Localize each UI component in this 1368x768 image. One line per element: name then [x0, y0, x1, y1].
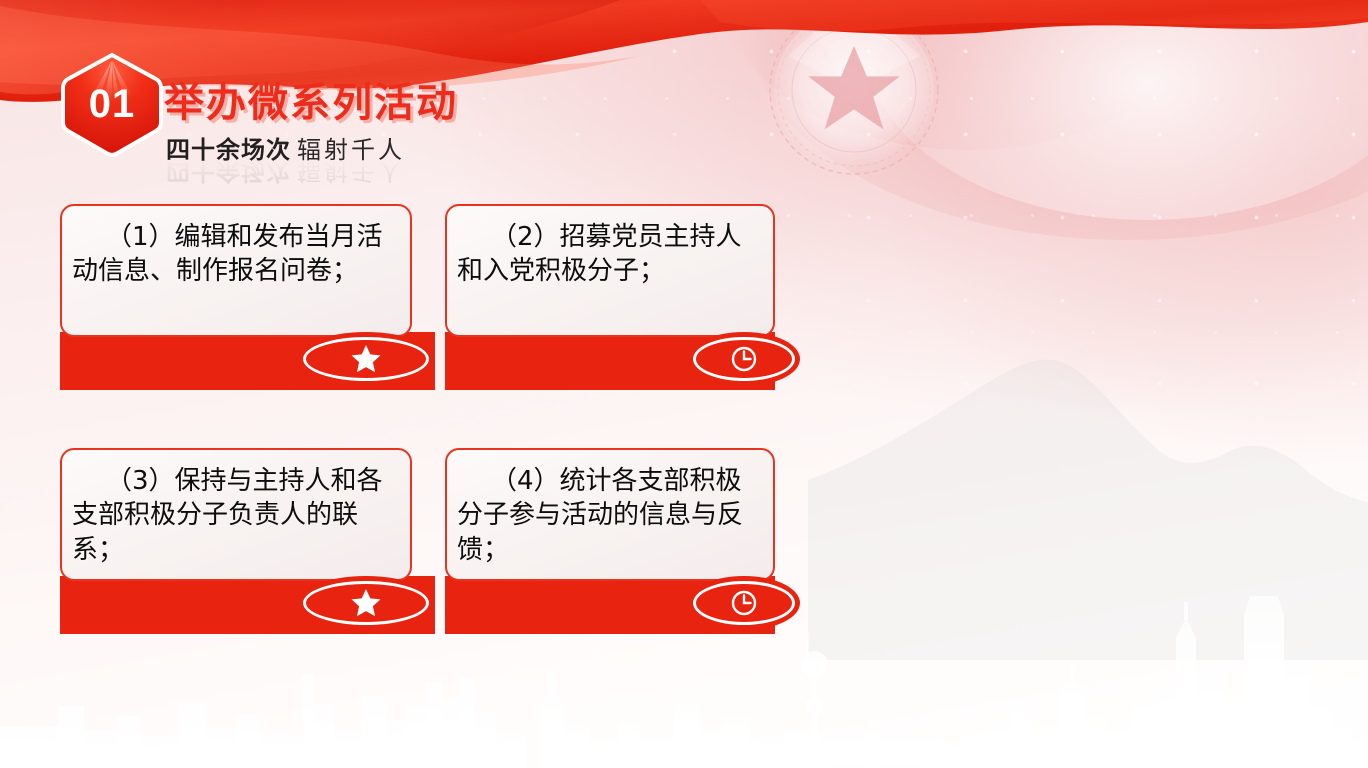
task-card[interactable]: （2）招募党员主持人和入党积极分子； — [445, 204, 797, 394]
star-badge[interactable] — [298, 332, 434, 386]
number-badge-label: 01 — [56, 52, 168, 158]
card-text: （1）编辑和发布当月活动信息、制作报名问卷； — [62, 206, 410, 289]
card-body: （4）统计各支部积极分子参与活动的信息与反馈； — [445, 448, 775, 581]
cloud-band-decoration — [728, 0, 1208, 150]
card-text: （4）统计各支部积极分子参与活动的信息与反馈； — [447, 450, 773, 567]
task-card[interactable]: （4）统计各支部积极分子参与活动的信息与反馈； — [445, 448, 797, 638]
mountain-silhouette-icon — [808, 330, 1368, 660]
cloud-band-decoration — [748, 0, 1368, 240]
subtitle-strong-reflection: 四十余场次 — [166, 157, 291, 185]
clock-badge[interactable] — [688, 576, 800, 630]
clock-icon — [728, 587, 760, 619]
subtitle-light-reflection: 辐射千人 — [297, 157, 405, 185]
star-icon — [349, 586, 383, 620]
number-badge: 01 — [56, 52, 168, 158]
star-medallion-watermark-icon — [736, 0, 972, 190]
task-card[interactable]: （1）编辑和发布当月活动信息、制作报名问卷； — [60, 204, 435, 394]
slide-canvas: 01 举办微系列活动 四十余场次辐射千人 四十余场次辐射千人 （1）编辑和发布当… — [0, 0, 1368, 768]
clock-badge[interactable] — [688, 332, 800, 386]
card-body: （3）保持与主持人和各支部积极分子负责人的联系； — [60, 448, 412, 581]
cloud-band-decoration — [868, 0, 1368, 220]
star-icon — [349, 342, 383, 376]
star-badge[interactable] — [298, 576, 434, 630]
clock-icon — [728, 343, 760, 375]
task-card[interactable]: （3）保持与主持人和各支部积极分子负责人的联系； — [60, 448, 435, 638]
card-body: （1）编辑和发布当月活动信息、制作报名问卷； — [60, 204, 412, 337]
slide-header: 01 举办微系列活动 四十余场次辐射千人 四十余场次辐射千人 — [56, 52, 576, 172]
page-title: 举办微系列活动 — [164, 70, 458, 128]
card-body: （2）招募党员主持人和入党积极分子； — [445, 204, 775, 337]
card-text: （3）保持与主持人和各支部积极分子负责人的联系； — [62, 450, 410, 567]
page-subtitle-reflection: 四十余场次辐射千人 — [166, 156, 405, 191]
card-text: （2）招募党员主持人和入党积极分子； — [447, 206, 773, 289]
